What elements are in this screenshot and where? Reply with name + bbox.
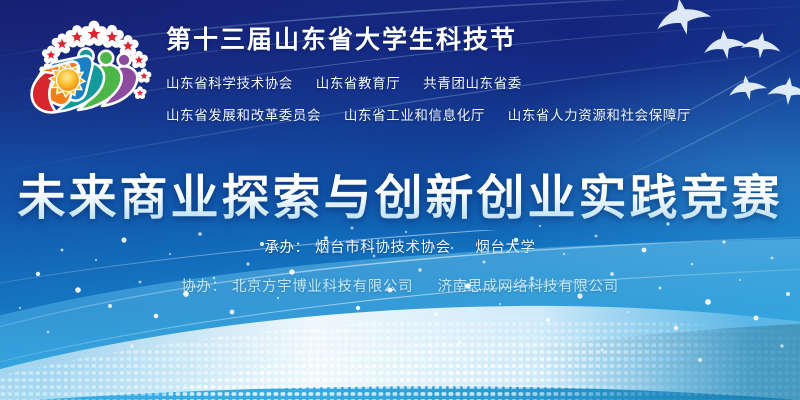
star-flower-icon	[137, 68, 152, 82]
organizer-2-3: 山东省人力资源和社会保障厅	[508, 108, 691, 124]
organizer-1-2: 山东省教育厅	[316, 76, 401, 92]
ribbon-green-head	[99, 51, 113, 65]
festival-logo	[18, 16, 168, 126]
organizer-2-1: 山东省发展和改革委员会	[166, 108, 321, 124]
organizer-1-3: 共青团山东省委	[423, 76, 522, 92]
poster-canvas: 第十三届山东省大学生科技节 山东省科学技术协会 山东省教育厅 共青团山东省委 山…	[0, 0, 800, 400]
organizer-line-1: 山东省科学技术协会 山东省教育厅 共青团山东省委	[166, 72, 766, 92]
ribbon-purple-head	[118, 54, 131, 67]
organizer-2-2: 山东省工业和信息化厅	[344, 108, 485, 124]
event-title: 第十三届山东省大学生科技节	[166, 26, 766, 55]
sparkle-field	[0, 220, 800, 400]
organizer-1-1: 山东省科学技术协会	[166, 76, 293, 92]
organizer-line-2: 山东省发展和改革委员会 山东省工业和信息化厅 山东省人力资源和社会保障厅	[166, 104, 766, 124]
main-title: 未来商业探索与创新创业实践竞赛	[0, 158, 800, 228]
header-text-block: 第十三届山东省大学生科技节 山东省科学技术协会 山东省教育厅 共青团山东省委 山…	[166, 26, 766, 124]
dove-icon	[767, 75, 800, 106]
festival-logo-mark	[18, 16, 168, 126]
